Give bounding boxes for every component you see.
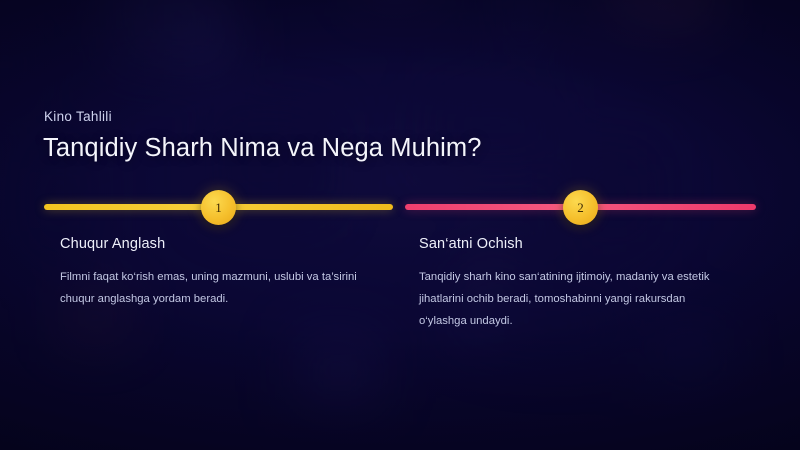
- column-2: San‘atni Ochish Tanqidiy sharh kino san‘…: [419, 236, 724, 332]
- column-1: Chuqur Anglash Filmni faqat ko‘rish emas…: [60, 236, 360, 310]
- timeline-track-2: [405, 204, 756, 210]
- slide-root: Kino Tahlili Tanqidiy Sharh Nima va Nega…: [0, 0, 800, 450]
- column-2-heading: San‘atni Ochish: [419, 236, 724, 252]
- timeline-marker-2[interactable]: 2: [563, 190, 598, 225]
- page-title: Tanqidiy Sharh Nima va Nega Muhim?: [43, 134, 482, 163]
- timeline: 1 2: [0, 0, 800, 450]
- timeline-track-1: [44, 204, 393, 210]
- column-1-body: Filmni faqat ko‘rish emas, uning mazmuni…: [60, 266, 360, 310]
- timeline-marker-1-label: 1: [215, 200, 222, 216]
- timeline-marker-2-label: 2: [577, 200, 584, 216]
- slide-content: Kino Tahlili Tanqidiy Sharh Nima va Nega…: [0, 0, 800, 450]
- column-1-heading: Chuqur Anglash: [60, 236, 360, 252]
- column-2-body: Tanqidiy sharh kino san‘atining ijtimoiy…: [419, 266, 724, 332]
- slide-eyebrow: Kino Tahlili: [44, 109, 112, 124]
- timeline-marker-1[interactable]: 1: [201, 190, 236, 225]
